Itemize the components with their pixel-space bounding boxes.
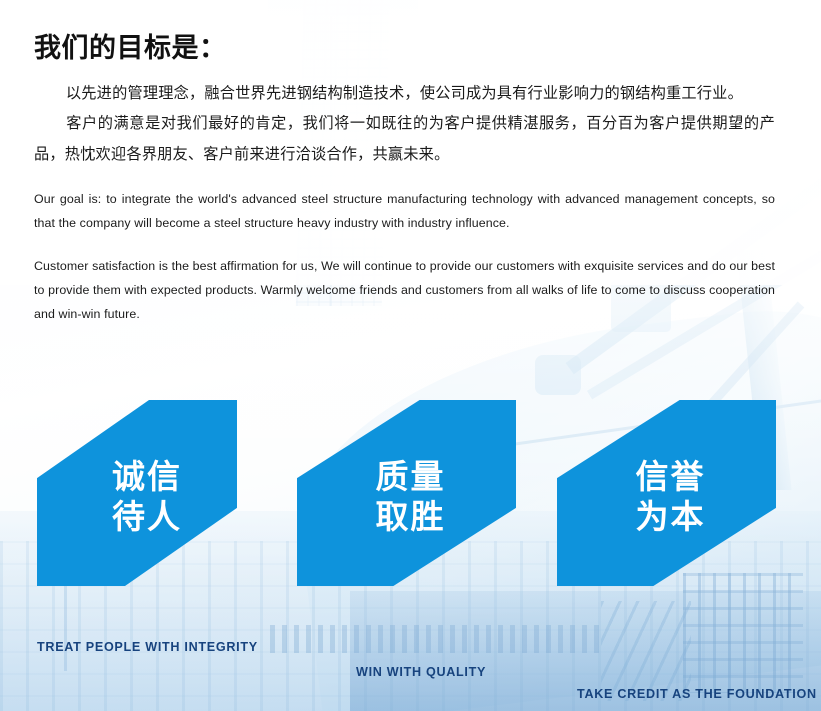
- value-banner-integrity[interactable]: 诚信 待人: [37, 400, 237, 586]
- goal-text-block: 我们的目标是： 以先进的管理理念，融合世界先进钢结构制造技术，使公司成为具有行业…: [0, 0, 821, 326]
- caption-treat-people-with-integrity: TREAT PEOPLE WITH INTEGRITY: [37, 640, 258, 654]
- chinese-paragraph-2-text: 客户的满意是对我们最好的肯定，我们将一如既往的为客户提供精湛服务，百分百为客户提…: [34, 115, 775, 162]
- value-banner-quality-label: 质量 取胜: [376, 457, 446, 538]
- value-banner-quality[interactable]: 质量 取胜: [297, 400, 516, 586]
- chinese-paragraph-2: 客户的满意是对我们最好的肯定，我们将一如既往的为客户提供精湛服务，百分百为客户提…: [34, 109, 775, 170]
- caption-take-credit-as-the-foundation: TAKE CREDIT AS THE FOUNDATION: [577, 687, 817, 701]
- value-banner-credit-label: 信誉 为本: [636, 457, 706, 538]
- caption-win-with-quality: WIN WITH QUALITY: [356, 665, 486, 679]
- chinese-paragraph-1-text: 以先进的管理理念，融合世界先进钢结构制造技术，使公司成为具有行业影响力的钢结构重…: [66, 85, 743, 102]
- value-banner-credit[interactable]: 信誉 为本: [557, 400, 776, 586]
- english-text-block: Our goal is: to integrate the world's ad…: [34, 187, 775, 326]
- page-title: 我们的目标是：: [34, 26, 775, 65]
- chinese-paragraph-1: 以先进的管理理念，融合世界先进钢结构制造技术，使公司成为具有行业影响力的钢结构重…: [34, 79, 775, 109]
- english-paragraph-1: Our goal is: to integrate the world's ad…: [34, 187, 775, 235]
- english-paragraph-2: Customer satisfaction is the best affirm…: [34, 254, 775, 327]
- value-banner-integrity-label: 诚信 待人: [112, 457, 182, 538]
- company-goal-slide: 我们的目标是： 以先进的管理理念，融合世界先进钢结构制造技术，使公司成为具有行业…: [0, 0, 821, 711]
